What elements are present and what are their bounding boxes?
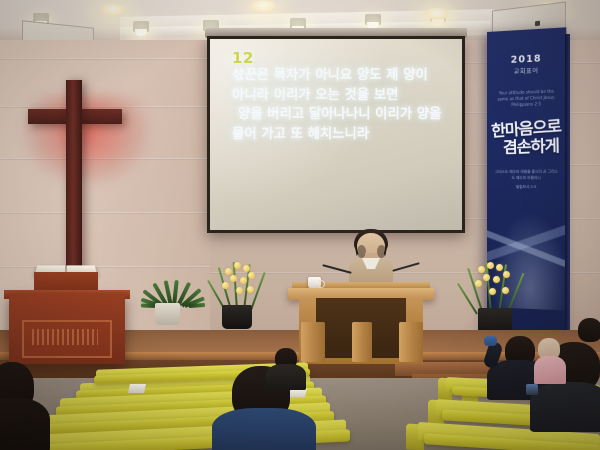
ceiling-spotlight-icon	[133, 21, 149, 32]
congregant-shoulders	[534, 356, 566, 384]
banner-note-reference: 빌립보서 2:5	[494, 185, 559, 191]
hymnal-book	[128, 384, 146, 393]
pulpit-column	[352, 322, 372, 362]
slide-content: 12 삯꾼은 목자가 아니요 양도 제 양이 아니라 이리가 오는 것을 보면 …	[210, 39, 462, 145]
ceiling-spotlight-icon	[365, 14, 381, 25]
banner-scripture-reference: Your attitude should be the same as that…	[495, 88, 558, 108]
plant-pot	[155, 303, 180, 325]
ceiling-downlight-icon	[100, 4, 126, 16]
projection-screen-frame: 12 삯꾼은 목자가 아니요 양도 제 양이 아니라 이리가 오는 것을 보면 …	[207, 36, 465, 233]
verse-line-2: 아니라 이리가 오는 것을 보면	[232, 86, 452, 106]
congregant-shoulders	[212, 408, 316, 450]
wall-panel-seam	[0, 212, 210, 214]
ceiling-downlight-icon	[424, 8, 450, 20]
congregant-shoulders	[0, 398, 50, 450]
ceiling-downlight-icon	[250, 0, 276, 12]
verse-line-1: 삯꾼은 목자가 아니요 양도 제 양이	[232, 66, 452, 86]
speaker-led-icon	[535, 21, 540, 27]
banner-side-edge	[565, 34, 570, 346]
wall-panel-seam	[0, 266, 210, 268]
banner-slogan: 한마음으로 겸손하게	[487, 117, 566, 160]
plant-pot	[222, 305, 252, 329]
banner-note: 그리스도 예수의 마음을 품으라 곧 그리스도 예수의 마음이니	[494, 169, 559, 181]
congregant-hand-item	[484, 336, 497, 346]
congregant-head	[578, 318, 600, 342]
verse-line-4: 물어 가고 또 헤치느니라	[232, 125, 452, 145]
verse-line-3: 양을 버리고 달아나나니 이리가 양을	[232, 105, 452, 125]
palm-plant	[140, 272, 202, 306]
orchid-plant	[214, 262, 266, 310]
banner-slogan-line-2: 겸손하게	[495, 137, 566, 158]
verse-number: 12	[232, 51, 452, 66]
communion-table-inscription	[32, 329, 98, 345]
congregant-shoulders	[266, 364, 306, 390]
tumbler-cup	[526, 384, 538, 395]
pulpit-column	[399, 322, 423, 362]
congregant-shoulders	[530, 382, 600, 432]
cross-vertical-beam	[66, 80, 82, 280]
wall-panel-seam	[0, 58, 210, 60]
preacher-hair-side	[377, 245, 386, 258]
pulpit-column	[301, 322, 325, 362]
projection-screen: 12 삯꾼은 목자가 아니요 양도 제 양이 아니라 이리가 오는 것을 보면 …	[210, 39, 462, 230]
church-sanctuary-photo: 12 삯꾼은 목자가 아니요 양도 제 양이 아니라 이리가 오는 것을 보면 …	[0, 0, 600, 450]
orchid-plant	[468, 262, 524, 314]
